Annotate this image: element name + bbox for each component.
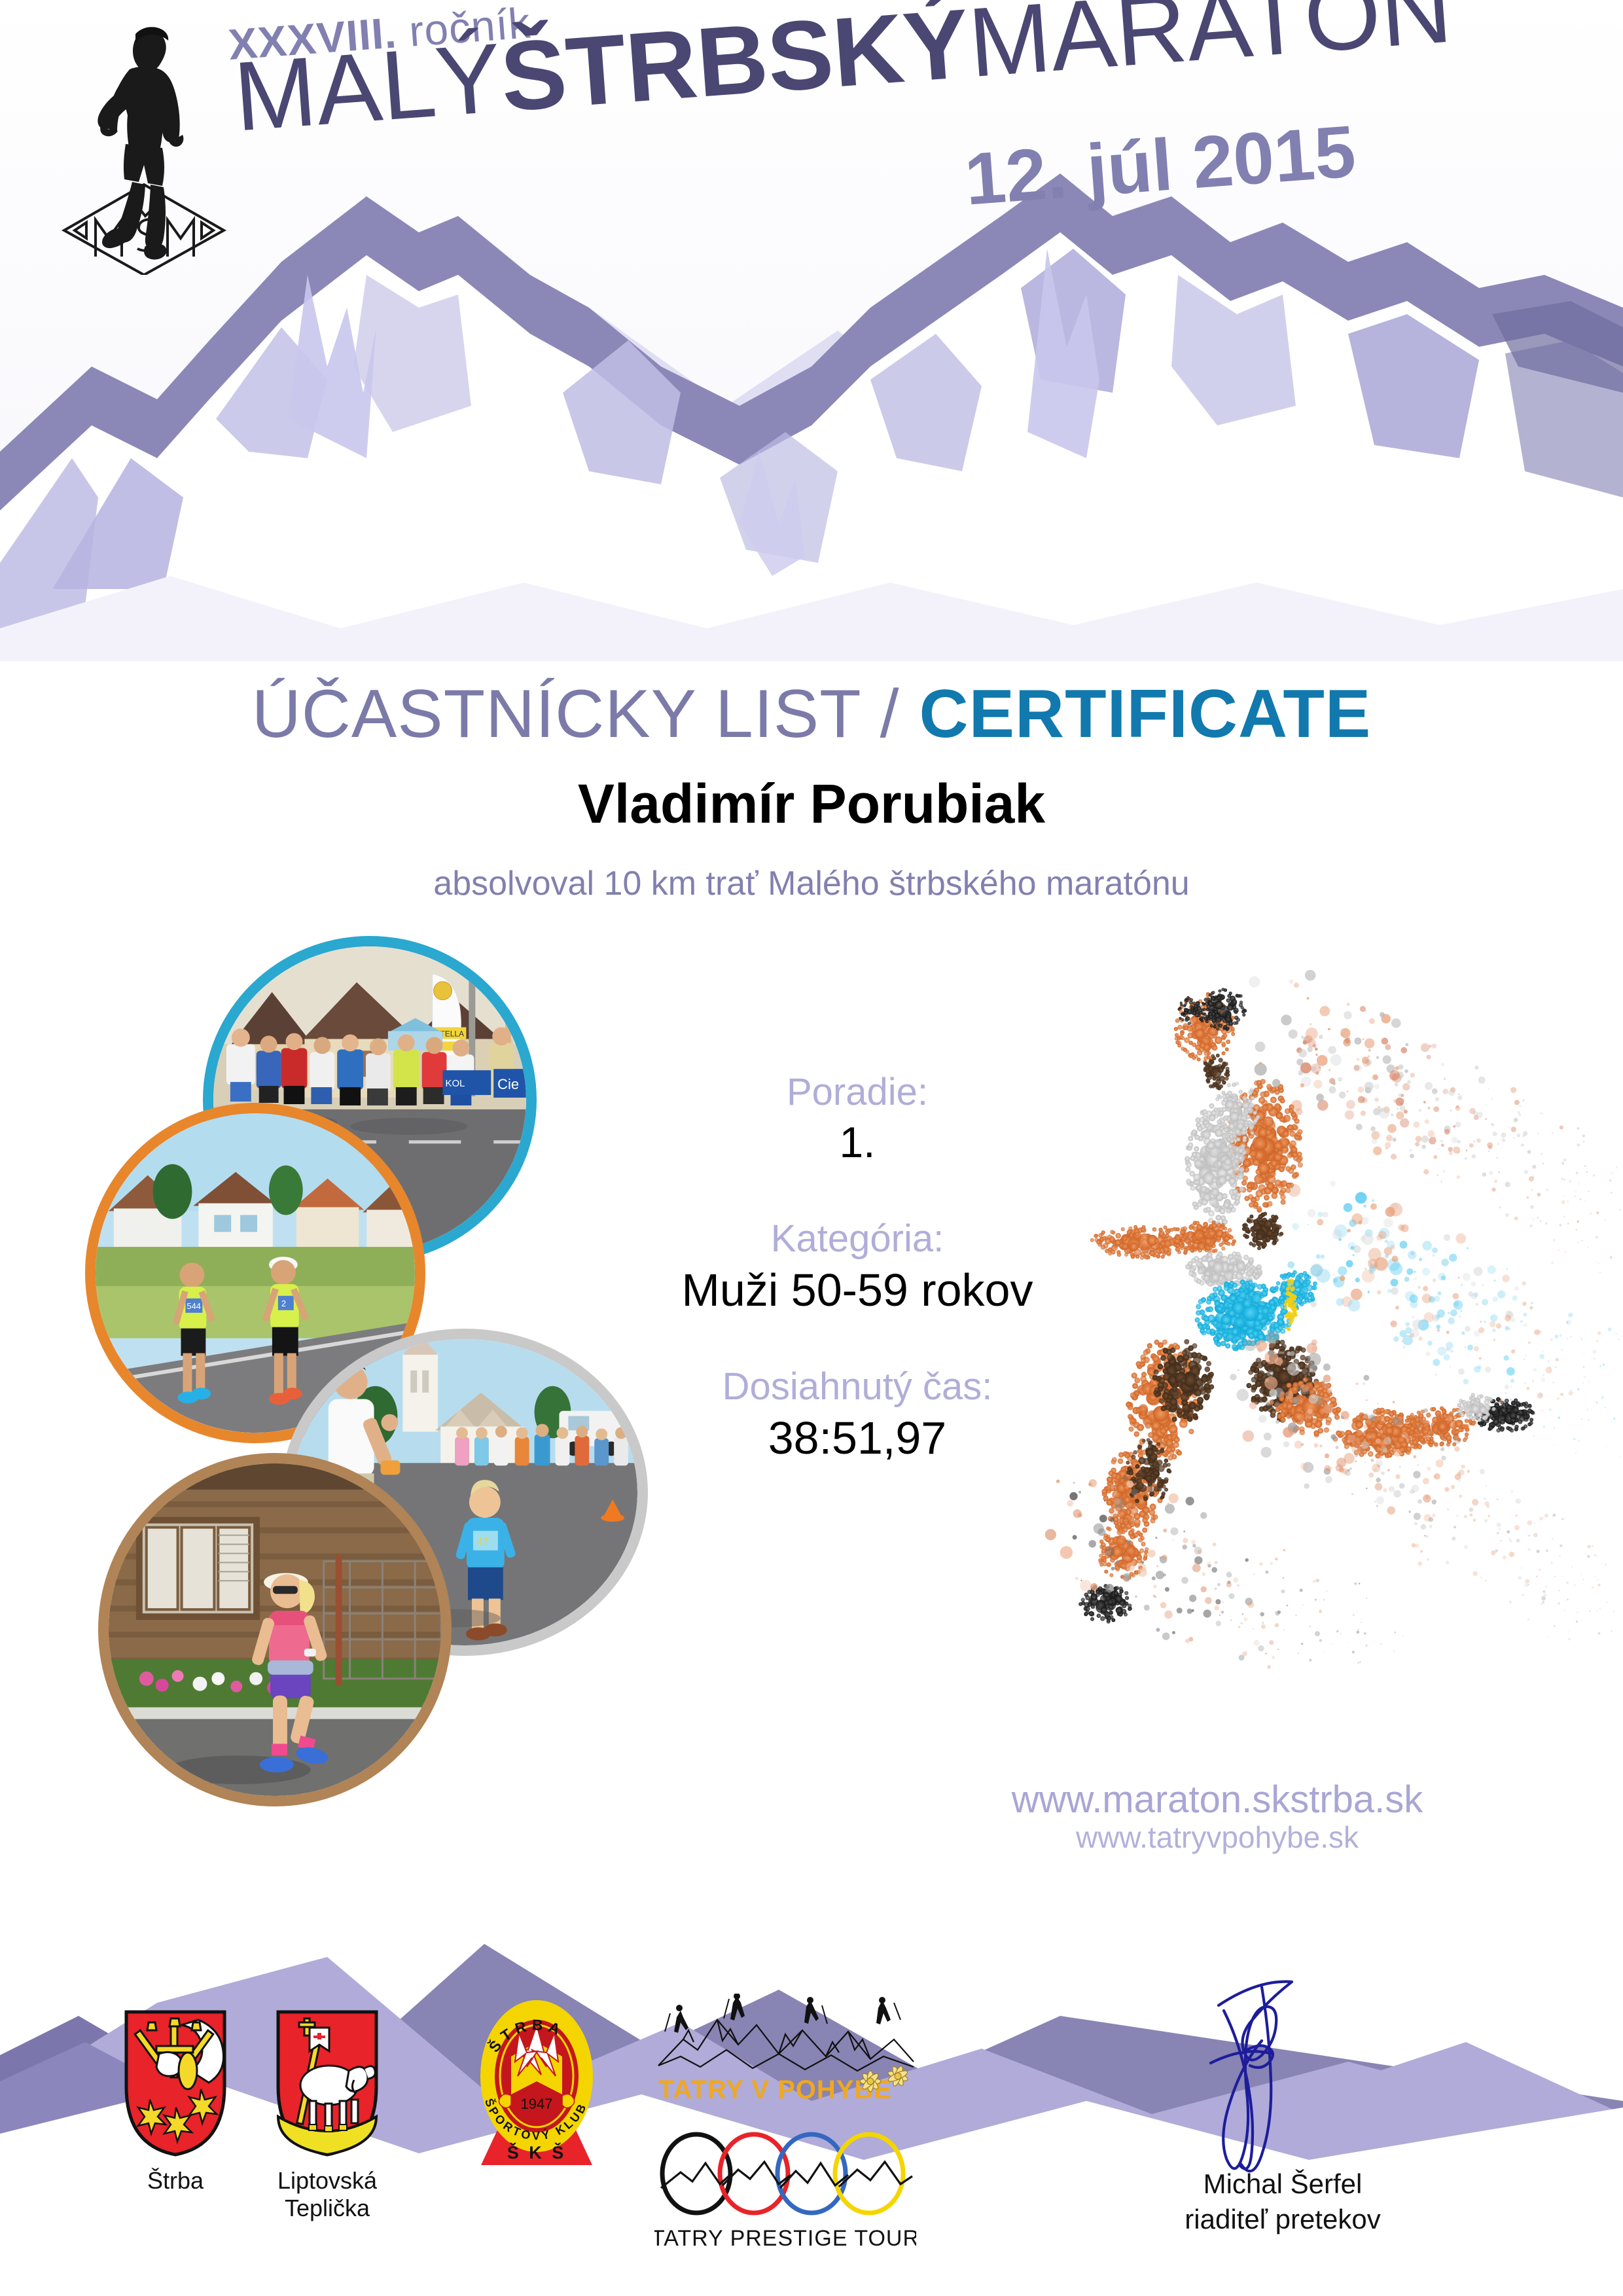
title-part-strbsky: ŠTRBSKÝ bbox=[497, 0, 973, 132]
signature-names: Michal Šerfel riaditeľ pretekov bbox=[1099, 2166, 1466, 2237]
event-title-block: XXXVIII. ročník MALÝŠTRBSKÝMARATÓN 12. j… bbox=[0, 0, 1623, 275]
certificate-title-en: CERTIFICATE bbox=[919, 676, 1371, 752]
director-signature bbox=[1178, 1977, 1394, 2193]
svg-text:Cie: Cie bbox=[497, 1076, 519, 1092]
strba-crest bbox=[120, 2008, 231, 2159]
photo-collage: STELLA bbox=[85, 936, 661, 1885]
liptovska-teplicka-crest-item: Liptovská Teplička bbox=[236, 2008, 419, 2223]
sks-strba-club-logo-item: 1947 ŠTRBA ŠPORTOVÝ KLUB Š K Š bbox=[458, 1996, 615, 2176]
secondary-website-link[interactable]: www.tatryvpohybe.sk bbox=[870, 1820, 1564, 1855]
tatry-v-pohybe-text: TATRY V POHYBE bbox=[658, 2075, 892, 2104]
runner-mosaic-artwork bbox=[1008, 949, 1623, 1669]
female-runner-photo bbox=[98, 1453, 452, 1806]
primary-website-link[interactable]: www.maraton.skstrba.sk bbox=[870, 1780, 1564, 1820]
title-part-maraton: MARATÓN bbox=[965, 0, 1455, 98]
race-description: absolvoval 10 km trať Malého štrbského m… bbox=[0, 864, 1623, 903]
tatry-v-pohybe-logo: TATRY V POHYBE bbox=[654, 1994, 916, 2118]
sks-strba-club-logo: 1947 ŠTRBA ŠPORTOVÝ KLUB Š K Š bbox=[468, 1996, 605, 2173]
director-name: Michal Šerfel bbox=[1099, 2166, 1466, 2202]
svg-text:47: 47 bbox=[477, 1537, 489, 1548]
certificate-page: XXXVIII. ročník MALÝŠTRBSKÝMARATÓN 12. j… bbox=[0, 0, 1623, 2296]
certificate-title-sk: ÚČASTNÍCKY LIST bbox=[252, 676, 861, 752]
svg-text:544: 544 bbox=[187, 1301, 201, 1311]
website-links: www.maraton.skstrba.sk www.tatryvpohybe.… bbox=[870, 1780, 1564, 1855]
tatry-logos-item: TATRY V POHYBE bbox=[648, 1994, 923, 2263]
title-part-maly: MALÝ bbox=[230, 22, 505, 151]
svg-text:Š K Š: Š K Š bbox=[507, 2142, 567, 2162]
strba-caption: Štrba bbox=[97, 2167, 254, 2195]
liptovska-teplicka-crest bbox=[272, 2008, 383, 2159]
tatry-prestige-tour-logo: TATRY PRESTIGE TOUR bbox=[654, 2129, 916, 2260]
athlete-name: Vladimír Porubiak bbox=[0, 772, 1623, 836]
strba-crest-item: Štrba bbox=[97, 2008, 254, 2195]
header-banner: XXXVIII. ročník MALÝŠTRBSKÝMARATÓN 12. j… bbox=[0, 0, 1623, 661]
svg-text:1947: 1947 bbox=[521, 2096, 553, 2112]
tatry-prestige-tour-text: TATRY PRESTIGE TOUR bbox=[654, 2226, 916, 2251]
event-date: 12. júl 2015 bbox=[962, 109, 1359, 221]
director-role: riaditeľ pretekov bbox=[1099, 2202, 1466, 2237]
svg-text:KOL: KOL bbox=[446, 1078, 465, 1089]
liptovska-teplicka-caption: Liptovská Teplička bbox=[236, 2167, 419, 2223]
svg-text:2: 2 bbox=[281, 1299, 286, 1308]
title-separator: / bbox=[880, 676, 900, 752]
page-title: ÚČASTNÍCKY LIST / CERTIFICATE bbox=[0, 675, 1623, 753]
